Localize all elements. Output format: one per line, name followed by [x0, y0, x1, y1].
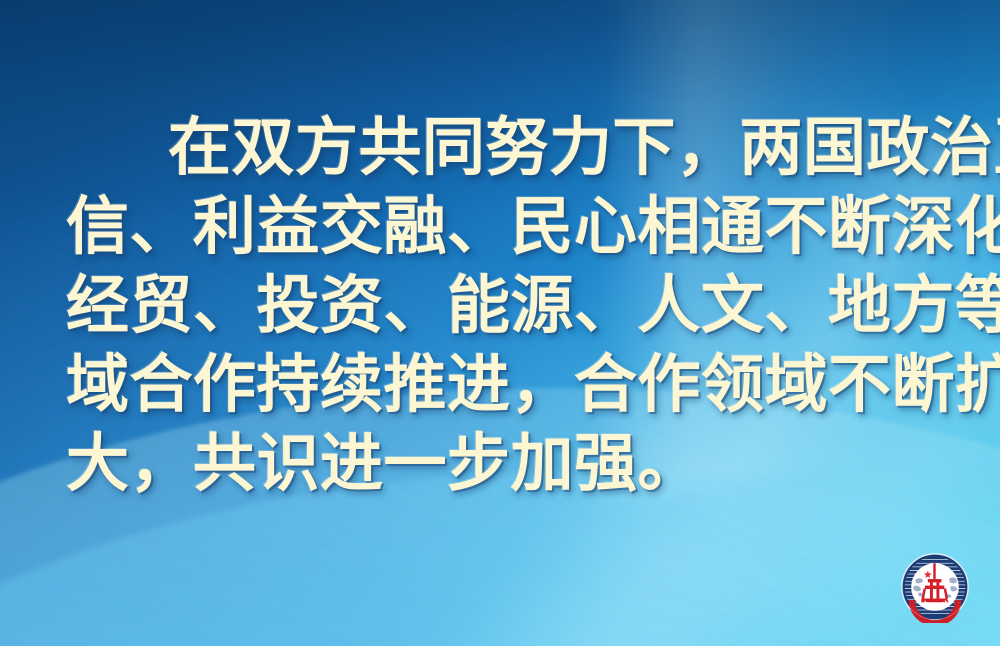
xinhua-logo: XINHUA: [899, 551, 971, 623]
headline-line-3: 经贸、投资、能源、人文、地方等领: [0, 266, 1000, 345]
xinhua-logo-icon: XINHUA: [899, 551, 971, 623]
headline-line-4: 域合作持续推进，合作领域不断扩: [0, 345, 1000, 424]
headline-line-5: 大，共识进一步加强。: [0, 424, 1000, 503]
headline-quote: 在双方共同努力下，两国政治互 信、利益交融、民心相通不断深化， 经贸、投资、能源…: [0, 108, 1000, 503]
quote-card: 在双方共同努力下，两国政治互 信、利益交融、民心相通不断深化， 经贸、投资、能源…: [0, 0, 1000, 646]
headline-line-1: 在双方共同努力下，两国政治互: [0, 108, 1000, 187]
headline-line-2: 信、利益交融、民心相通不断深化，: [0, 187, 1000, 266]
